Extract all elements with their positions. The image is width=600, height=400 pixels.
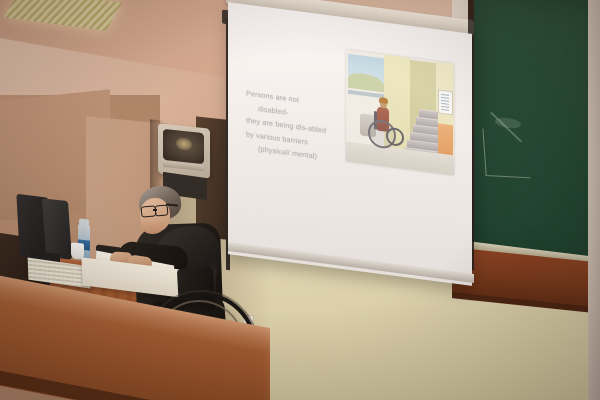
computer-monitor-front [42,198,72,259]
lecture-hall-photo: Persons are not disabled- they are being… [0,0,600,400]
chalk-mark-triangle [482,129,530,179]
slide-text-block: Persons are not disabled- they are being… [246,86,358,168]
illustration-notice-sign [438,89,453,115]
illustration-orange-panel [436,123,453,155]
eyeglasses-bridge [153,209,157,211]
water-bottle-cap [79,218,89,225]
illustration-person-hair [379,97,388,104]
slide-illustration [346,49,454,175]
right-wall-edge [588,0,600,400]
projection-screen: Persons are not disabled- they are being… [228,2,472,286]
presentation-slide: Persons are not disabled- they are being… [228,2,472,286]
